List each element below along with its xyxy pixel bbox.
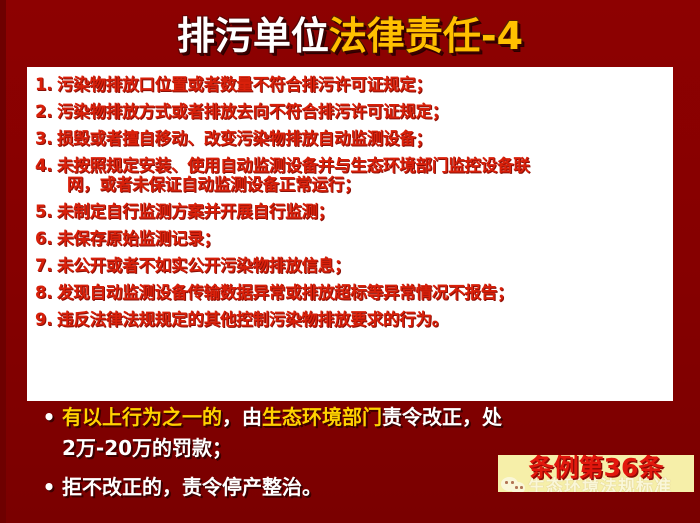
title-part-topic: 法律责任-4 — [329, 17, 523, 55]
list-item-number: 3. — [35, 130, 57, 148]
violations-panel: 1. 污染物排放口位置或者数量不符合排污许可证规定； 2. 污染物排放方式或者排… — [27, 67, 673, 401]
list-item: 7. 未公开或者不如实公开污染物排放信息； — [35, 257, 665, 275]
list-item-text: 违反法律法规规定的其他控制污染物排放要求的行为。 — [57, 311, 665, 329]
penalty-seg-gold-2: 生态环境部门 — [262, 405, 382, 429]
list-item-number: 4. — [35, 157, 57, 175]
list-item-text-line1: 未按照规定安装、使用自动监测设备并与生态环境部门监控设备联 — [57, 156, 530, 175]
bullet-icon: • — [36, 404, 62, 431]
list-item-text: 未制定自行监测方案并开展自行监测； — [57, 203, 665, 221]
list-item: 6. 未保存原始监测记录； — [35, 230, 665, 248]
list-item-text: 未按照规定安装、使用自动监测设备并与生态环境部门监控设备联网，或者未保证自动监测… — [57, 157, 665, 193]
regulation-badge-label: 条例第36条 — [498, 455, 694, 483]
list-item: 5. 未制定自行监测方案并开展自行监测； — [35, 203, 665, 221]
list-item-text: 损毁或者擅自移动、改变污染物排放自动监测设备； — [57, 130, 665, 148]
list-item-number: 2. — [35, 103, 57, 121]
list-item-number: 1. — [35, 76, 57, 94]
bullet-icon: • — [36, 474, 62, 501]
list-item: 1. 污染物排放口位置或者数量不符合排污许可证规定； — [35, 76, 665, 94]
violations-list: 1. 污染物排放口位置或者数量不符合排污许可证规定； 2. 污染物排放方式或者排… — [27, 67, 673, 329]
penalty-seg-gold-1: 有以上行为之一的 — [62, 405, 222, 429]
list-item-number: 5. — [35, 203, 57, 221]
list-item-text-line2: 网，或者未保证自动监测设备正常运行； — [57, 176, 665, 194]
list-item: 2. 污染物排放方式或者排放去向不符合排污许可证规定； — [35, 103, 665, 121]
regulation-badge: 生态环境法规标准 条例第36条 — [498, 455, 694, 492]
penalty-seg-white-2: 责令改正，处 — [382, 405, 502, 429]
left-edge-stripe — [0, 0, 6, 523]
list-item-number: 8. — [35, 284, 57, 302]
slide-title: 排污单位法律责任-4 — [0, 8, 700, 64]
list-item-text: 未保存原始监测记录； — [57, 230, 665, 248]
list-item-number: 7. — [35, 257, 57, 275]
list-item: 8. 发现自动监测设备传输数据异常或排放超标等异常情况不报告； — [35, 284, 665, 302]
penalty-bullet-1: • 有以上行为之一的，由生态环境部门责令改正，处 — [36, 404, 666, 431]
penalty-seg-white-1: ，由 — [222, 405, 262, 429]
list-item: 4. 未按照规定安装、使用自动监测设备并与生态环境部门监控设备联网，或者未保证自… — [35, 157, 665, 193]
list-item-text: 未公开或者不如实公开污染物排放信息； — [57, 257, 665, 275]
slide-root: 排污单位法律责任-4 1. 污染物排放口位置或者数量不符合排污许可证规定； 2.… — [0, 0, 700, 523]
list-item: 3. 损毁或者擅自移动、改变污染物排放自动监测设备； — [35, 130, 665, 148]
list-item-number: 9. — [35, 311, 57, 329]
list-item-text: 发现自动监测设备传输数据异常或排放超标等异常情况不报告； — [57, 284, 665, 302]
list-item-text: 污染物排放口位置或者数量不符合排污许可证规定； — [57, 76, 665, 94]
title-part-subject: 排污单位 — [177, 17, 329, 55]
list-item-number: 6. — [35, 230, 57, 248]
list-item-text: 污染物排放方式或者排放去向不符合排污许可证规定； — [57, 103, 665, 121]
list-item: 9. 违反法律法规规定的其他控制污染物排放要求的行为。 — [35, 311, 665, 329]
penalty-bullet-1-text: 有以上行为之一的，由生态环境部门责令改正，处 — [62, 404, 666, 431]
